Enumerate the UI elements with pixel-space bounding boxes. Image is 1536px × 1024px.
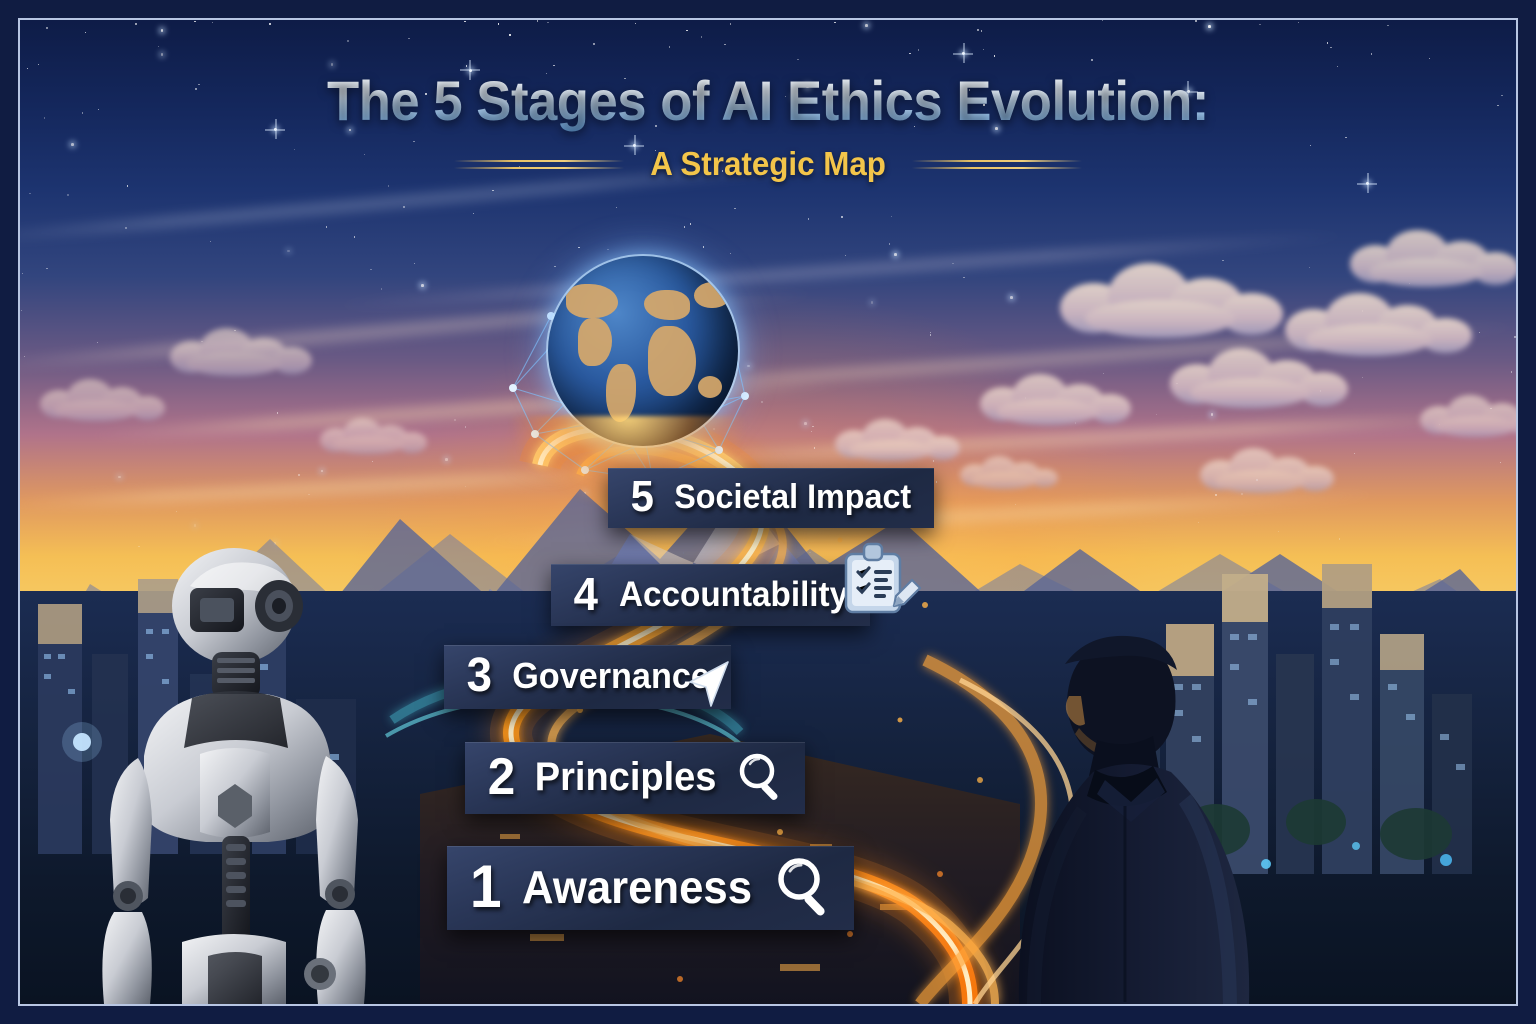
stage-label: Accountability [619, 577, 848, 612]
magnifying-glass-icon [735, 750, 789, 804]
stage-number: 2 [488, 751, 515, 803]
magnifying-glass-icon [772, 854, 838, 920]
stage-item-accountability[interactable]: 4 Accountability [551, 564, 870, 626]
stage-number: 1 [470, 857, 502, 917]
scene: The 5 Stages of AI Ethics Evolution: A S… [20, 20, 1516, 1004]
stage-label: Principles [535, 757, 717, 797]
clipboard-checklist-pencil-icon [838, 540, 924, 627]
subtitle-rule-right [912, 160, 1082, 169]
businessman-silhouette [1005, 624, 1280, 1004]
cursor-arrow-icon [684, 654, 738, 717]
title-block: The 5 Stages of AI Ethics Evolution: A S… [20, 68, 1516, 183]
stage-item-awareness[interactable]: 1 Awareness [447, 846, 854, 930]
infographic-frame: The 5 Stages of AI Ethics Evolution: A S… [0, 0, 1536, 1024]
humanoid-robot [72, 544, 392, 1004]
stage-number: 5 [631, 475, 654, 519]
stage-label: Awareness [522, 864, 752, 910]
subtitle-row: A Strategic Map [20, 145, 1516, 183]
stage-label: Governance [512, 658, 710, 694]
subtitle-rule-left [454, 160, 624, 169]
stage-number: 4 [574, 571, 598, 617]
stage-item-societal-impact[interactable]: 5 Societal Impact [608, 468, 934, 528]
page-title: The 5 Stages of AI Ethics Evolution: [65, 68, 1471, 133]
page-subtitle: A Strategic Map [650, 145, 886, 183]
stage-item-principles[interactable]: 2 Principles [465, 742, 805, 814]
stage-label: Societal Impact [675, 480, 912, 514]
stage-number: 3 [467, 652, 492, 700]
